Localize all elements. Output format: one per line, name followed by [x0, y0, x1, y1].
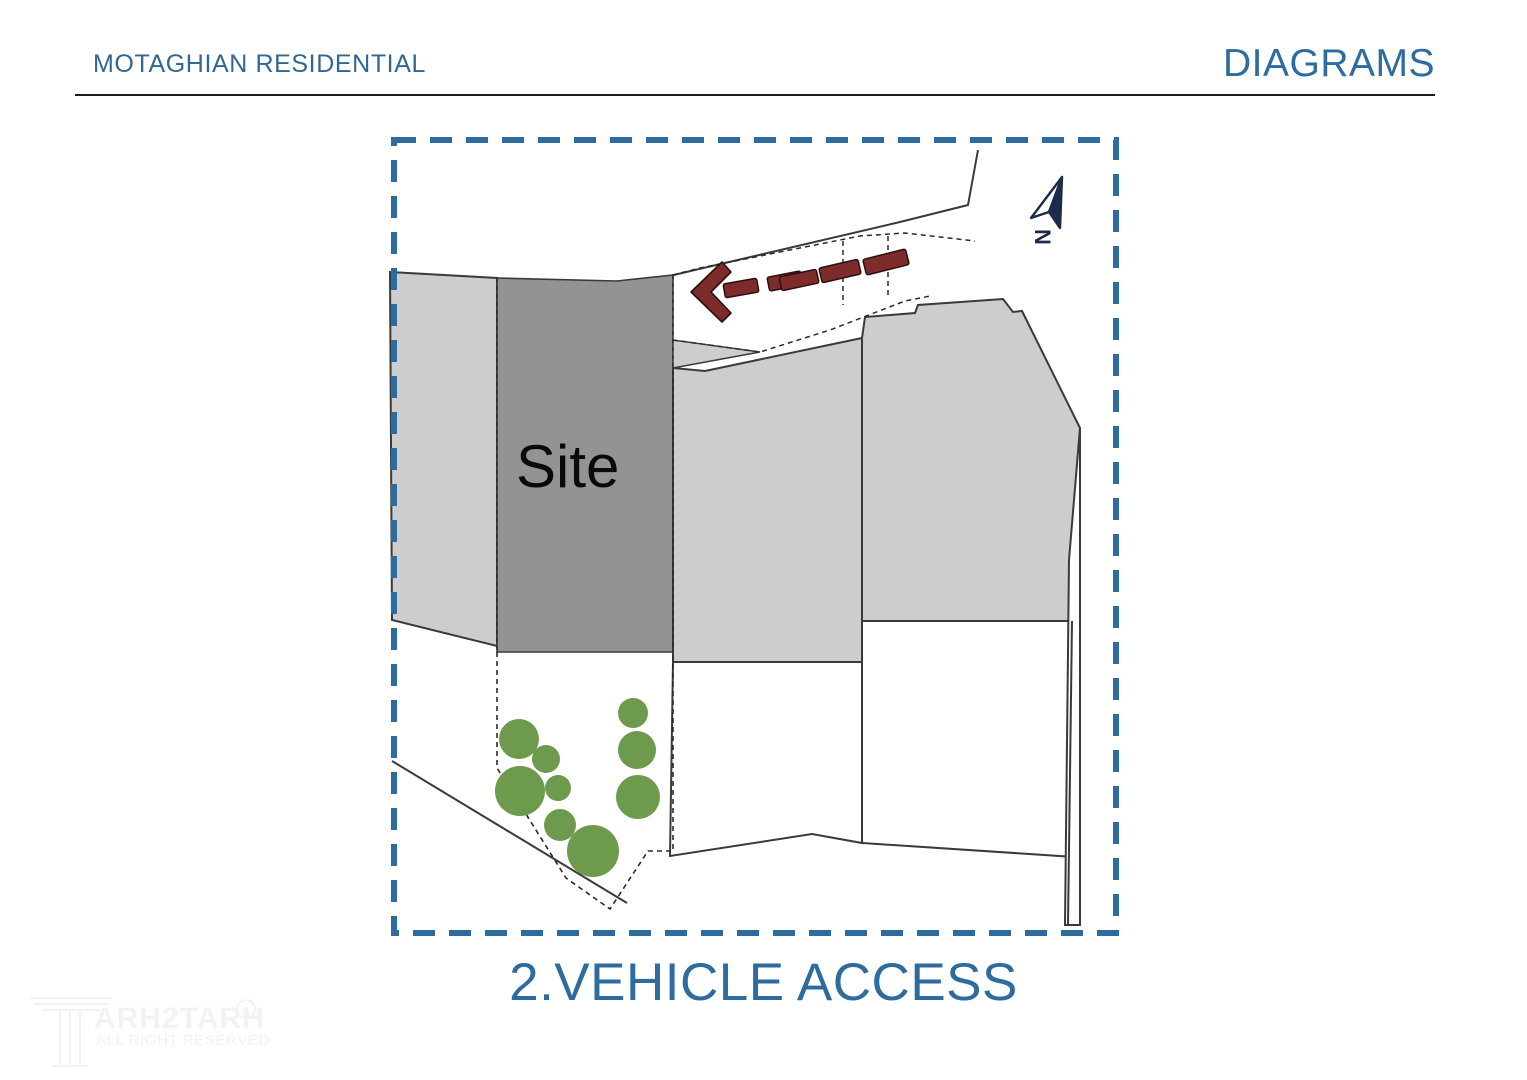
plot-south-east: [862, 621, 1080, 857]
plot-south-center: [670, 662, 862, 856]
tree-marker: [618, 731, 656, 769]
vehicle-access-arrow: [691, 249, 909, 322]
tree-marker: [616, 775, 660, 819]
tree-marker: [567, 825, 619, 877]
building-block-west: [390, 272, 497, 646]
building-block-center: [673, 338, 862, 662]
tree-marker: [545, 775, 571, 801]
tree-marker: [618, 698, 648, 728]
north-arrow-label: N: [1030, 229, 1055, 245]
tree-marker: [532, 745, 560, 773]
diagram-canvas: N Site: [0, 0, 1527, 1080]
site-label: Site: [516, 433, 619, 500]
watermark-rights: ALL RIGHT RESERVED: [96, 1032, 270, 1049]
watermark-brand: ARH2TARH: [94, 1002, 265, 1036]
watermark-logo: c ARH2TARH ALL RIGHT RESERVED: [24, 988, 274, 1070]
building-block-east: [862, 299, 1080, 621]
north-arrow-icon: N: [1030, 177, 1062, 245]
tree-marker: [544, 809, 576, 841]
tree-marker: [495, 766, 545, 816]
site-diagram: N Site: [0, 0, 1527, 1080]
tree-cluster: [495, 698, 660, 877]
tree-marker: [499, 719, 539, 759]
